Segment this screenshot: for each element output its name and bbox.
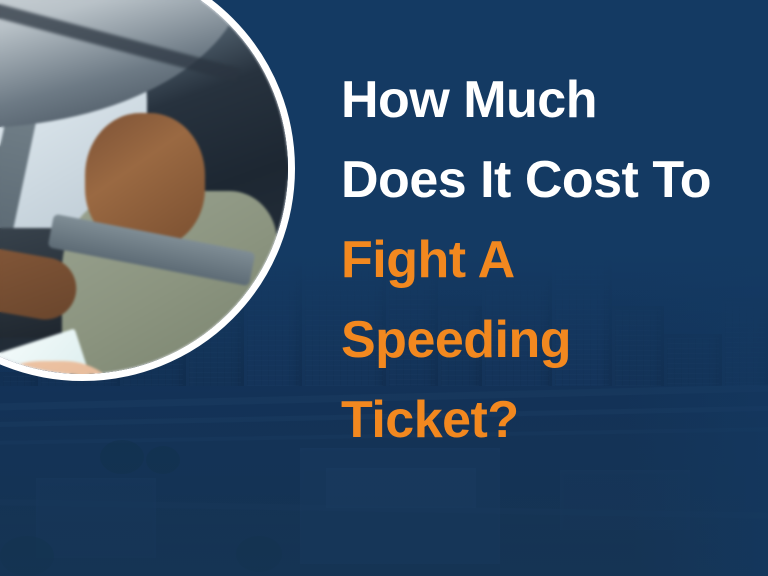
hero-photo-image <box>0 0 288 374</box>
headline: How Much Does It Cost To Fight A Speedin… <box>341 60 761 460</box>
headline-line-2: Does It Cost To <box>341 140 761 220</box>
promo-banner: How Much Does It Cost To Fight A Speedin… <box>0 0 768 576</box>
photo-softening-layer <box>0 0 288 374</box>
headline-line-1: How Much <box>341 60 761 140</box>
headline-line-5: Ticket? <box>341 380 761 460</box>
circular-hero-photo <box>0 0 295 381</box>
headline-line-3: Fight A <box>341 220 761 300</box>
headline-line-4: Speeding <box>341 300 761 380</box>
